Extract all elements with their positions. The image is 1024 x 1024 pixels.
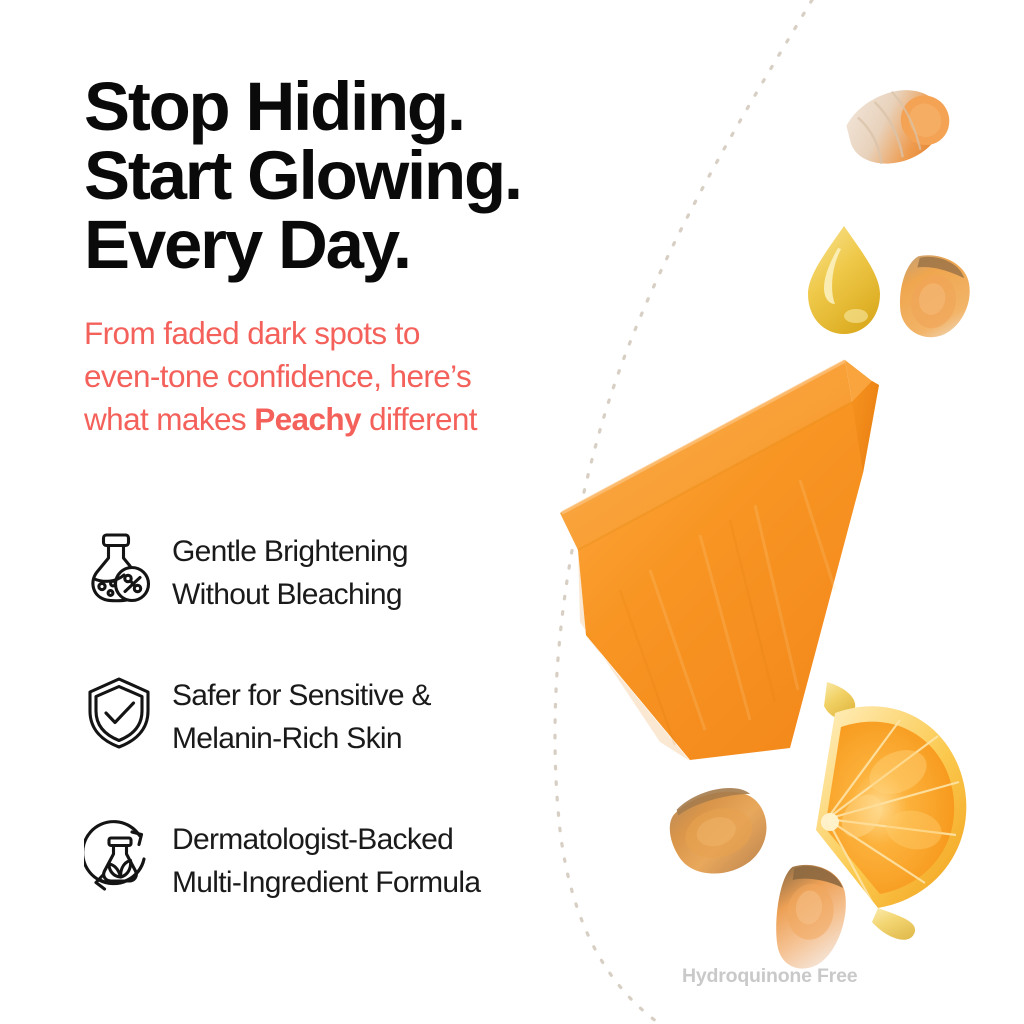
feature-label-safer-sensitive: Safer for Sensitive & Melanin-Rich Skin: [162, 669, 431, 760]
feature-2-line-2: Melanin-Rich Skin: [172, 718, 431, 761]
feature-label-gentle-brightening: Gentle Brightening Without Bleaching: [162, 525, 408, 616]
ad-canvas: Stop Hiding. Start Glowing. Every Day. F…: [0, 0, 1024, 1024]
subheadline: From faded dark spots to even-tone confi…: [84, 279, 584, 441]
feature-1-line-1: Gentle Brightening: [172, 531, 408, 574]
subheadline-line-3: what makes Peachy different: [84, 398, 584, 441]
page-title: Stop Hiding. Start Glowing. Every Day.: [84, 72, 584, 279]
subheadline-line-2: even-tone confidence, here’s: [84, 355, 584, 398]
subheadline-line-3-prefix: what makes: [84, 401, 254, 437]
subheadline-line-3-suffix: different: [361, 401, 477, 437]
footer-note: Hydroquinone Free: [682, 965, 857, 988]
feature-item-dermatologist-backed: Dermatologist-Backed Multi-Ingredient Fo…: [84, 813, 604, 957]
feature-1-line-2: Without Bleaching: [172, 574, 408, 617]
turmeric-piece-bottom: [770, 861, 852, 973]
oil-bead-small: [872, 719, 892, 739]
feature-label-dermatologist-backed: Dermatologist-Backed Multi-Ingredient Fo…: [162, 813, 480, 904]
oil-droplet-large: [808, 226, 880, 334]
flask-leaf-cycle-icon: [84, 813, 162, 899]
turmeric-root-top: [837, 71, 959, 180]
copy-column: Stop Hiding. Start Glowing. Every Day. F…: [84, 72, 584, 441]
brand-name: Peachy: [254, 401, 361, 437]
orange-slice: [816, 706, 966, 940]
feature-list: Gentle Brightening Without Bleaching Saf…: [84, 525, 604, 957]
oil-drip: [824, 682, 855, 719]
turmeric-piece-lower-left: [661, 778, 777, 884]
turmeric-piece-right: [891, 249, 977, 345]
feature-item-gentle-brightening: Gentle Brightening Without Bleaching: [84, 525, 604, 669]
feature-3-line-2: Multi-Ingredient Formula: [172, 862, 480, 905]
shield-check-icon: [84, 669, 162, 755]
headline-line-2: Start Glowing.: [84, 141, 584, 210]
feature-3-line-1: Dermatologist-Backed: [172, 819, 480, 862]
subheadline-line-1: From faded dark spots to: [84, 312, 584, 355]
flask-molecule-icon: [84, 525, 162, 611]
slice-oil-drip: [872, 908, 915, 940]
oil-bead-large: [850, 748, 878, 776]
feature-item-safer-sensitive: Safer for Sensitive & Melanin-Rich Skin: [84, 669, 604, 813]
feature-2-line-1: Safer for Sensitive &: [172, 675, 431, 718]
soap-bar: [560, 360, 879, 761]
headline-line-3: Every Day.: [84, 210, 584, 279]
headline-line-1: Stop Hiding.: [84, 72, 584, 141]
